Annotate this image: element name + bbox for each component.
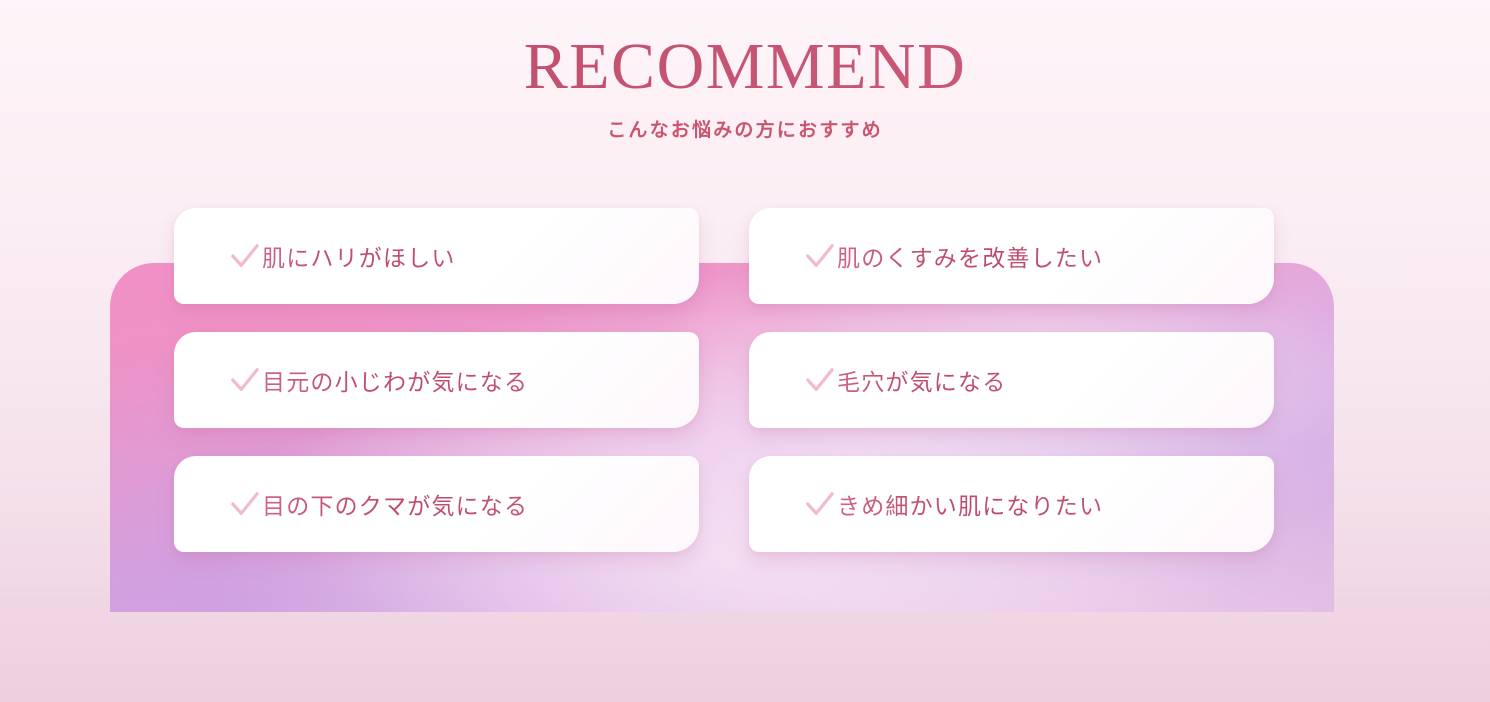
recommend-card[interactable]: 目の下のクマが気になる [174, 456, 699, 552]
recommend-card[interactable]: 肌にハリがほしい [174, 208, 699, 304]
page-title: RECOMMEND [0, 32, 1490, 101]
page-subtitle: こんなお悩みの方におすすめ [0, 115, 1490, 142]
recommend-card-label: 肌にハリがほしい [262, 239, 456, 273]
recommend-card-label: 目の下のクマが気になる [262, 487, 528, 521]
check-icon [230, 365, 260, 395]
recommend-card-label: 肌のくすみを改善したい [837, 239, 1103, 273]
section-header: RECOMMEND こんなお悩みの方におすすめ [0, 0, 1490, 142]
check-icon [805, 365, 835, 395]
recommend-card-label: きめ細かい肌になりたい [837, 487, 1103, 521]
check-icon [805, 489, 835, 519]
recommend-card[interactable]: 目元の小じわが気になる [174, 332, 699, 428]
recommend-card[interactable]: きめ細かい肌になりたい [749, 456, 1274, 552]
recommend-card[interactable]: 毛穴が気になる [749, 332, 1274, 428]
check-icon [230, 489, 260, 519]
recommend-card-label: 目元の小じわが気になる [262, 363, 528, 397]
recommend-card[interactable]: 肌のくすみを改善したい [749, 208, 1274, 304]
check-icon [230, 241, 260, 271]
recommend-card-grid: 肌にハリがほしい 肌のくすみを改善したい 目元の小じわが気になる 毛穴が気になる… [174, 208, 1274, 552]
check-icon [805, 241, 835, 271]
recommend-card-label: 毛穴が気になる [837, 363, 1006, 397]
